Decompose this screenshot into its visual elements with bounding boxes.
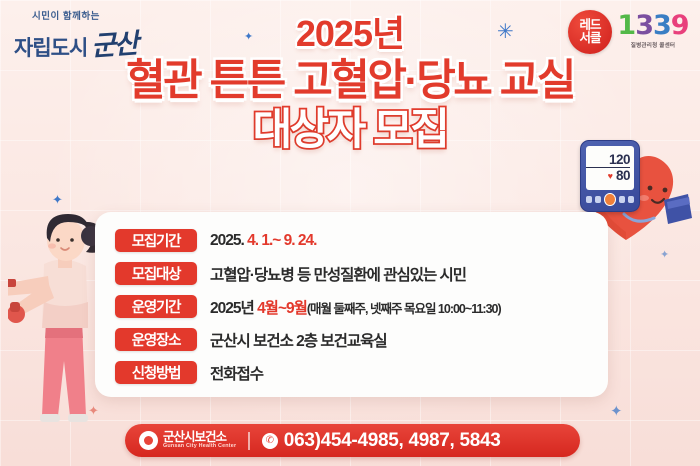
value-prefix: 전화접수 [210, 366, 263, 383]
info-value-target: 고혈압·당뇨병 등 만성질환에 관심있는 시민 [210, 263, 466, 285]
info-value-application-method: 전화접수 [210, 362, 263, 384]
bp-side-button [595, 196, 601, 203]
footer-phone-number: 063)454-4985, 4987, 5843 [284, 430, 501, 452]
value-highlight: 4월~9월 [257, 300, 307, 317]
value-prefix: 군산시 보건소 2층 보건교육실 [210, 333, 387, 350]
bp-power-button [604, 193, 616, 206]
bp-systolic-value: 120 [609, 153, 630, 167]
value-note: (매월 둘째주, 넷째주 목요일 10:00~11:30) [307, 302, 501, 316]
headline-year: 2025년 [0, 16, 700, 52]
value-prefix: 2025. [210, 232, 247, 249]
footer-phone-block[interactable]: ✆ 063)454-4985, 4987, 5843 [262, 430, 501, 452]
health-center-mark-icon [139, 431, 158, 450]
heart-icon: ♥ [608, 171, 613, 181]
info-label-recruit-period: 모집기간 [115, 229, 197, 252]
bp-side-button [628, 196, 634, 203]
phone-icon: ✆ [262, 433, 278, 449]
footer-divider [248, 432, 250, 450]
info-row: 운영장소 군산시 보건소 2층 보건교육실 [95, 323, 608, 356]
info-label-application-method: 신청방법 [115, 361, 197, 384]
info-value-recruit-period: 2025. 4. 1.~ 9. 24. [210, 232, 316, 250]
info-label-operating-period: 운영기간 [115, 295, 197, 318]
health-center-name-en: Gunsan City Health Center [163, 444, 236, 450]
value-highlight: 4. 1.~ 9. 24. [247, 232, 316, 249]
info-label-target: 모집대상 [115, 262, 197, 285]
value-prefix: 2025년 [210, 300, 257, 317]
info-row: 모집기간 2025. 4. 1.~ 9. 24. [95, 224, 608, 257]
footer-contact-bar: 군산시보건소 Gunsan City Health Center ✆ 063)4… [125, 424, 580, 457]
health-center-logo: 군산시보건소 Gunsan City Health Center [139, 431, 236, 450]
bp-side-button [586, 196, 592, 203]
sparkle-icon: ✦ [52, 193, 63, 206]
info-card: 모집기간 2025. 4. 1.~ 9. 24. 모집대상 고혈압·당뇨병 등 … [95, 212, 608, 397]
bp-button-row [586, 193, 634, 206]
sparkle-icon: ✦ [610, 404, 623, 419]
info-row: 모집대상 고혈압·당뇨병 등 만성질환에 관심있는 시민 [95, 257, 608, 290]
info-value-operating-period: 2025년 4월~9월(매월 둘째주, 넷째주 목요일 10:00~11:30) [210, 296, 501, 318]
info-label-venue: 운영장소 [115, 328, 197, 351]
headline-sub: 대상자 모집 [0, 107, 700, 153]
headline-main: 혈관 튼튼 고혈압·당뇨 교실 [0, 58, 700, 104]
poster-canvas: 시민이 함께하는 자립도시 군산 레드 서클 1339 질병관리청 콜센터 ✦ … [0, 0, 700, 466]
bp-diastolic-value: 80 [616, 169, 630, 183]
info-row: 신청방법 전화접수 [95, 356, 608, 389]
bp-side-button [619, 196, 625, 203]
value-prefix: 고혈압·당뇨병 등 만성질환에 관심있는 시민 [210, 267, 466, 284]
info-value-venue: 군산시 보건소 2층 보건교육실 [210, 329, 387, 351]
info-row: 운영기간 2025년 4월~9월(매월 둘째주, 넷째주 목요일 10:00~1… [95, 290, 608, 323]
headline-block: 2025년 혈관 튼튼 고혈압·당뇨 교실 대상자 모집 [0, 16, 700, 154]
